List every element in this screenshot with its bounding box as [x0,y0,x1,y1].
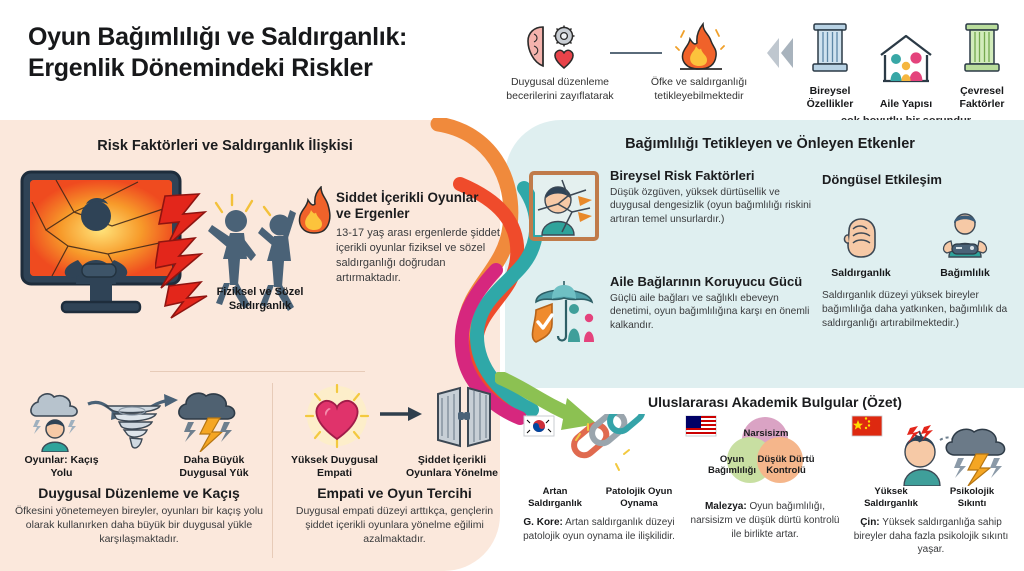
open-door-icon [438,388,490,446]
china-cap-left: Yüksek Saldırganlık [854,486,928,510]
right-panel-items: Bireysel Risk Faktörleri Düşük özgüven, … [528,168,818,362]
china-country: Çin: [860,517,879,528]
cycle-node-addiction: Bağımlılık [926,211,1004,279]
storm-cloud-lightning-icon [179,393,235,452]
korea-body: G. Kore: Artan saldırganlık düzeyi patol… [516,516,682,544]
pillar-label: Bireysel Özellikler [795,85,865,111]
malaysia-body: Malezya: Oyun bağımlılığı, narsisizm ve … [682,500,848,541]
empathy-game-icons [282,384,507,452]
academic-heading: Uluslararası Akademik Bulgular (Özet) [540,394,1010,410]
family-house-icon [877,33,935,89]
korea-cap-right: Patolojik Oyun Oynama [599,486,679,510]
china-body: Çin: Yüksek saldırganlığa sahip bireyler… [848,516,1014,557]
cycle-node-aggression: Saldırganlık [822,211,900,279]
fight-caption: Fiziksel ve Sözel Saldırganlık [195,285,325,314]
violence-body: 13-17 yaş arası ergenlerde şiddet içerik… [336,226,506,286]
individual-risk-item: Bireysel Risk Faktörleri Düşük özgüven, … [528,168,818,256]
flame-icon [294,186,334,234]
south-korea-flag-icon [524,416,554,436]
escape-caption-right: Daha Büyük Duygusal Yük [164,454,264,481]
right-panel-heading: Bağımlılığı Tetikleyen ve Önleyen Etkenl… [540,136,1000,152]
raised-fist-icon [839,211,883,259]
academic-entry-china: Yüksek Saldırganlık Psikolojik Sıkıntı Ç… [848,414,1014,557]
individual-risk-body: Düşük özgüven, yüksek dürtüsellik ve duy… [610,186,818,227]
china-visual [848,414,1014,486]
brain-gear-heart-icon [495,22,625,70]
individual-risk-heading: Bireysel Risk Faktörleri [610,168,818,184]
arrow-right-icon [380,407,422,421]
venn-label-narcissism: Narsisizm [734,428,798,439]
malaysia-country: Malezya: [705,501,747,512]
broken-mirror-person-icon [528,170,600,242]
stressed-person-storm-icon [904,425,1005,486]
emotion-regulation-caption: Duygusal düzenleme becerilerini zayıflat… [495,75,625,103]
emotion-regulation-block: Duygusal düzenleme becerilerini zayıflat… [495,22,625,103]
emotional-regulation-title: Duygusal Düzenleme ve Kaçış [14,485,264,501]
chain-links-icon [570,414,646,470]
double-chevron-left-icon [763,36,795,70]
venn-label-addiction: Oyun Bağımlılığı [707,454,757,477]
cycle-body: Saldırganlık düzeyi yüksek bireyler bağı… [822,289,1017,331]
glowing-heart-icon [306,385,368,447]
china-cap-right: Psikolojik Sıkıntı [936,486,1008,510]
gamer-controller-icon [939,211,991,259]
umbrella-shield-family-icon [528,276,600,348]
person-with-raincloud-icon [31,394,77,452]
emotion-escape-icons [14,384,264,452]
pillar-label: Aile Yapısı [871,98,941,111]
empathy-title: Empati ve Oyun Tercihi [282,485,507,501]
emotional-regulation-body: Öfkesini yönetemeyen bireyler, oyunları … [14,504,264,547]
header: Oyun Bağımlılığı ve Saldırganlık: Ergenl… [0,0,1024,120]
empathy-caption-right: Şiddet İçerikli Oyunlara Yönelme [397,454,507,481]
aggression-caption: Öfke ve saldırganlığı tetikleyebilmekted… [640,75,758,103]
pillar-column-icon [960,20,1004,76]
cycle-block: Döngüsel Etkileşim Saldırganlık [822,172,1022,331]
left-divider-vertical [272,383,273,558]
infographic-canvas: Oyun Bağımlılığı ve Saldırganlık: Ergenl… [0,0,1024,571]
cycle-node-label: Saldırganlık [822,267,900,279]
pillar-aile: Aile Yapısı [871,33,941,111]
cycle-heading: Döngüsel Etkileşim [822,172,1022,187]
academic-entry-korea: Artan Saldırganlık Patolojik Oyun Oynama… [516,414,682,557]
china-flag-icon [852,416,882,436]
aggression-block: Öfke ve saldırganlığı tetikleyebilmekted… [640,22,758,103]
pillar-label: Çevresel Faktörler [947,85,1017,111]
left-panel-heading: Risk Faktörleri ve Saldırganlık İlişkisi [30,138,420,154]
empathy-body: Duygusal empati düzeyi arttıkça, gençler… [282,504,507,547]
family-protection-heading: Aile Bağlarının Koruyucu Gücü [610,274,818,290]
empathy-caption-left: Yüksek Duygusal Empati [282,454,387,481]
korea-visual [516,414,682,486]
cycle-node-label: Bağımlılık [926,267,1004,279]
violence-heading: Siddet İçerikli Oyunlar ve Ergenler [336,190,496,223]
family-protection-item: Aile Bağlarının Koruyucu Gücü Güçlü aile… [528,274,818,362]
korea-cap-left: Artan Saldırganlık [519,486,591,510]
pillar-bireysel: Bireysel Özellikler [795,20,865,111]
malaysia-visual [682,414,848,488]
pillar-column-icon [808,20,852,76]
family-protection-body: Güçlü aile bağları ve sağlıklı ebeveyn d… [610,292,818,333]
fire-icon [640,22,758,70]
page-title: Oyun Bağımlılığı ve Saldırganlık: Ergenl… [28,22,478,84]
malaysia-flag-icon [686,416,716,436]
left-divider-horizontal [150,371,365,372]
pillar-cevresel: Çevresel Faktörler [947,20,1017,111]
academic-entries: Artan Saldırganlık Patolojik Oyun Oynama… [516,414,1016,557]
escape-caption-left: Oyunlar: Kaçış Yolu [14,454,109,481]
empathy-block: Yüksek Duygusal Empati Şiddet İçerikli O… [282,384,507,546]
emotional-regulation-block: Oyunlar: Kaçış Yolu Daha Büyük Duygusal … [14,384,264,546]
venn-label-impulse: Düşük Dürtü Kontrolü [757,454,815,477]
academic-entry-malaysia: Narsisizm Oyun Bağımlılığı Düşük Dürtü K… [682,414,848,557]
korea-country: G. Kore: [523,517,562,528]
